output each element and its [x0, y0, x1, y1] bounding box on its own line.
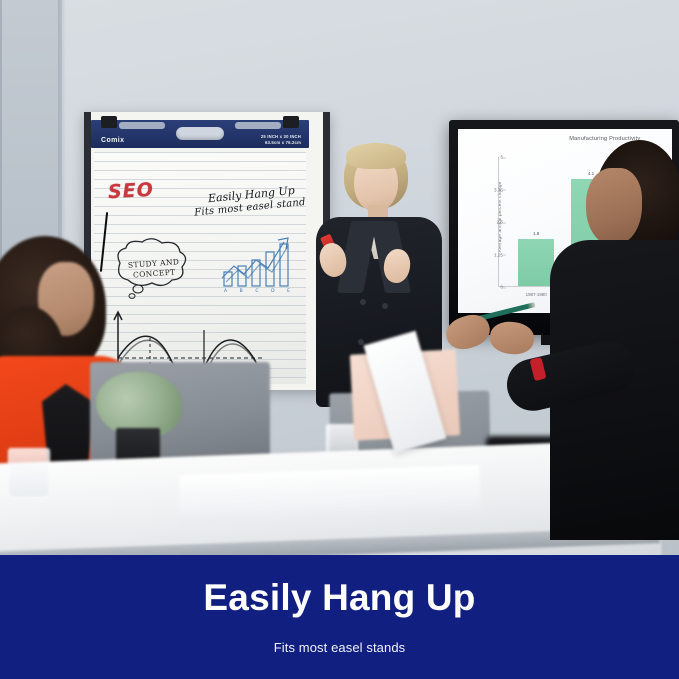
- handwritten-seo-logo: SEO: [107, 179, 154, 203]
- size-spec: 25 INCH x 30 INCH 63.5cm x 76.2cm: [261, 134, 301, 145]
- mini-chart-label-a: A: [224, 289, 227, 294]
- attendee-right-person: [498, 140, 679, 540]
- mini-chart-label-d: D: [271, 289, 274, 294]
- mini-chart-label-b: B: [240, 289, 243, 294]
- mini-chart-x-labels: A B C D E: [224, 289, 290, 294]
- brand-logo-comix: Comix: [101, 137, 124, 144]
- size-spec-metric: 63.5cm x 76.2cm: [261, 140, 301, 145]
- mini-chart-label-c: C: [255, 289, 258, 294]
- easel-clip-right: [283, 116, 299, 128]
- mini-chart-label-e: E: [287, 289, 290, 294]
- bar-and-trend-line-icon: [218, 232, 298, 290]
- product-marketing-image: Comix 25 INCH x 30 INCH 63.5cm x 76.2cm …: [0, 0, 679, 679]
- banner-subline: Fits most easel stands: [274, 640, 406, 655]
- water-glass-left: [8, 448, 50, 498]
- handwritten-note: Easily Hang Up Fits most easel stands: [189, 182, 306, 220]
- easel-hang-bar-left: [119, 122, 165, 129]
- easel-header-board: Comix 25 INCH x 30 INCH 63.5cm x 76.2cm: [91, 120, 309, 148]
- easel-clip-left: [101, 116, 117, 128]
- presenter-button-1: [360, 299, 366, 305]
- attendee-right-face: [586, 168, 642, 246]
- meeting-room-photo: Comix 25 INCH x 30 INCH 63.5cm x 76.2cm …: [0, 0, 679, 555]
- handwritten-growth-chart: A B C D E: [218, 232, 298, 294]
- size-spec-inches: 25 INCH x 30 INCH: [261, 134, 301, 139]
- easel-hang-bar-right: [235, 122, 281, 129]
- promo-banner: Easily Hang Up Fits most easel stands: [0, 555, 679, 679]
- banner-headline: Easily Hang Up: [203, 579, 475, 618]
- presenter-fringe: [346, 143, 406, 169]
- easel-carry-handle: [176, 127, 224, 140]
- presenter-button-3: [358, 339, 364, 345]
- papers-on-table: [179, 465, 481, 525]
- presenter-button-2: [382, 303, 388, 309]
